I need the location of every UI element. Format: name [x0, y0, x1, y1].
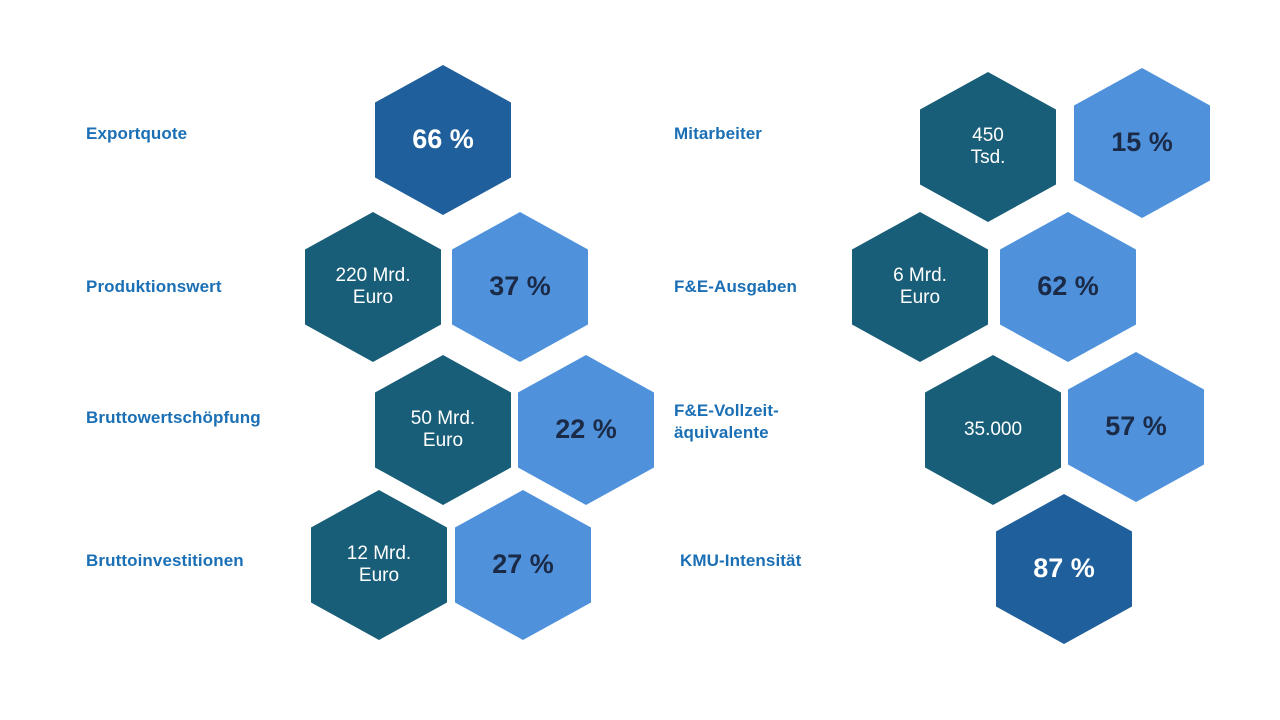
hexagon-infographic: 66 %220 Mrd. Euro37 %50 Mrd. Euro22 %12 … [0, 0, 1280, 720]
hexagon-shape [455, 490, 591, 640]
hex-exportquote-66: 66 % [375, 65, 511, 215]
row-label-left-1: Produktionswert [86, 276, 222, 298]
hex-fe-vollzeit-57: 57 % [1068, 352, 1204, 502]
hex-fe-ausgaben-62: 62 % [1000, 212, 1136, 362]
hexagon-shape [311, 490, 447, 640]
hex-bruttoinvestitionen-27: 27 % [455, 490, 591, 640]
hex-fe-vollzeit-35000: 35.000 [925, 355, 1061, 505]
hexagon-shape [375, 65, 511, 215]
hexagon-shape [996, 494, 1132, 644]
hex-fe-ausgaben-6: 6 Mrd. Euro [852, 212, 988, 362]
row-label-left-2: Bruttowertschöpfung [86, 407, 261, 429]
hex-bruttowertschoepfung-50: 50 Mrd. Euro [375, 355, 511, 505]
hexagon-shape [452, 212, 588, 362]
hexagon-shape [852, 212, 988, 362]
hexagon-shape [518, 355, 654, 505]
hex-produktionswert-220: 220 Mrd. Euro [305, 212, 441, 362]
hexagon-shape [1000, 212, 1136, 362]
hexagon-shape [1074, 68, 1210, 218]
hex-kmu-intensitaet-87: 87 % [996, 494, 1132, 644]
hex-bruttoinvestitionen-12: 12 Mrd. Euro [311, 490, 447, 640]
hexagon-shape [305, 212, 441, 362]
hex-mitarbeiter-15: 15 % [1074, 68, 1210, 218]
hexagon-shape [925, 355, 1061, 505]
row-label-left-0: Exportquote [86, 123, 187, 145]
hexagon-shape [920, 72, 1056, 222]
row-label-right-3: KMU-Intensität [680, 550, 801, 572]
hex-bruttowertschoepfung-22: 22 % [518, 355, 654, 505]
row-label-right-2: F&E-Vollzeit- äquivalente [674, 400, 779, 444]
row-label-right-0: Mitarbeiter [674, 123, 762, 145]
hexagon-shape [1068, 352, 1204, 502]
row-label-right-1: F&E-Ausgaben [674, 276, 797, 298]
hexagon-shape [375, 355, 511, 505]
hex-mitarbeiter-450: 450 Tsd. [920, 72, 1056, 222]
hex-produktionswert-37: 37 % [452, 212, 588, 362]
row-label-left-3: Bruttoinvestitionen [86, 550, 244, 572]
